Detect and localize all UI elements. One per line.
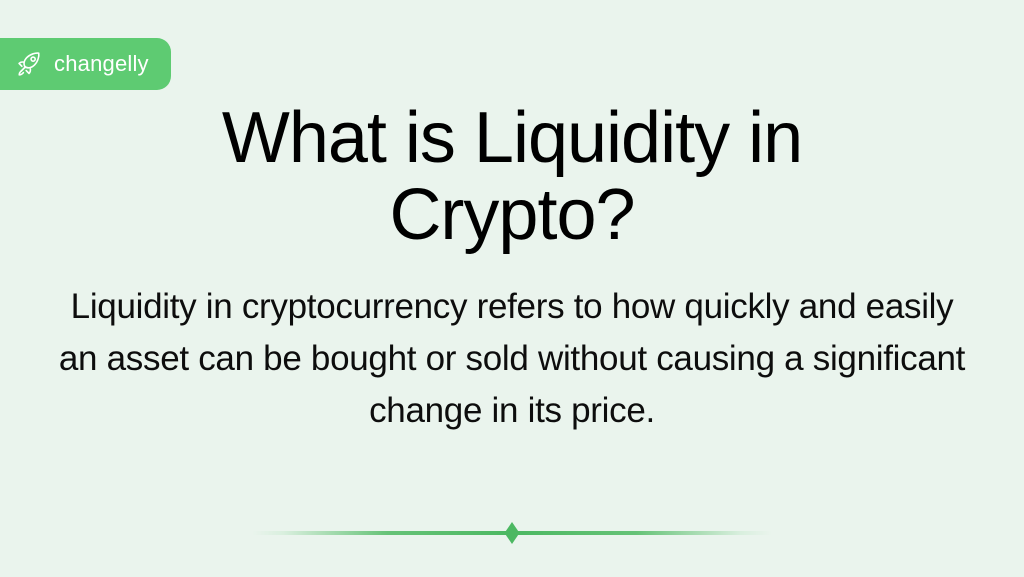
diamond-ornament-icon <box>505 522 520 544</box>
page-title: What is Liquidity in Crypto? <box>162 100 862 254</box>
ornamental-divider <box>252 522 772 544</box>
article-hero: What is Liquidity in Crypto? Liquidity i… <box>0 0 1024 577</box>
page-subtitle: Liquidity in cryptocurrency refers to ho… <box>57 281 967 436</box>
